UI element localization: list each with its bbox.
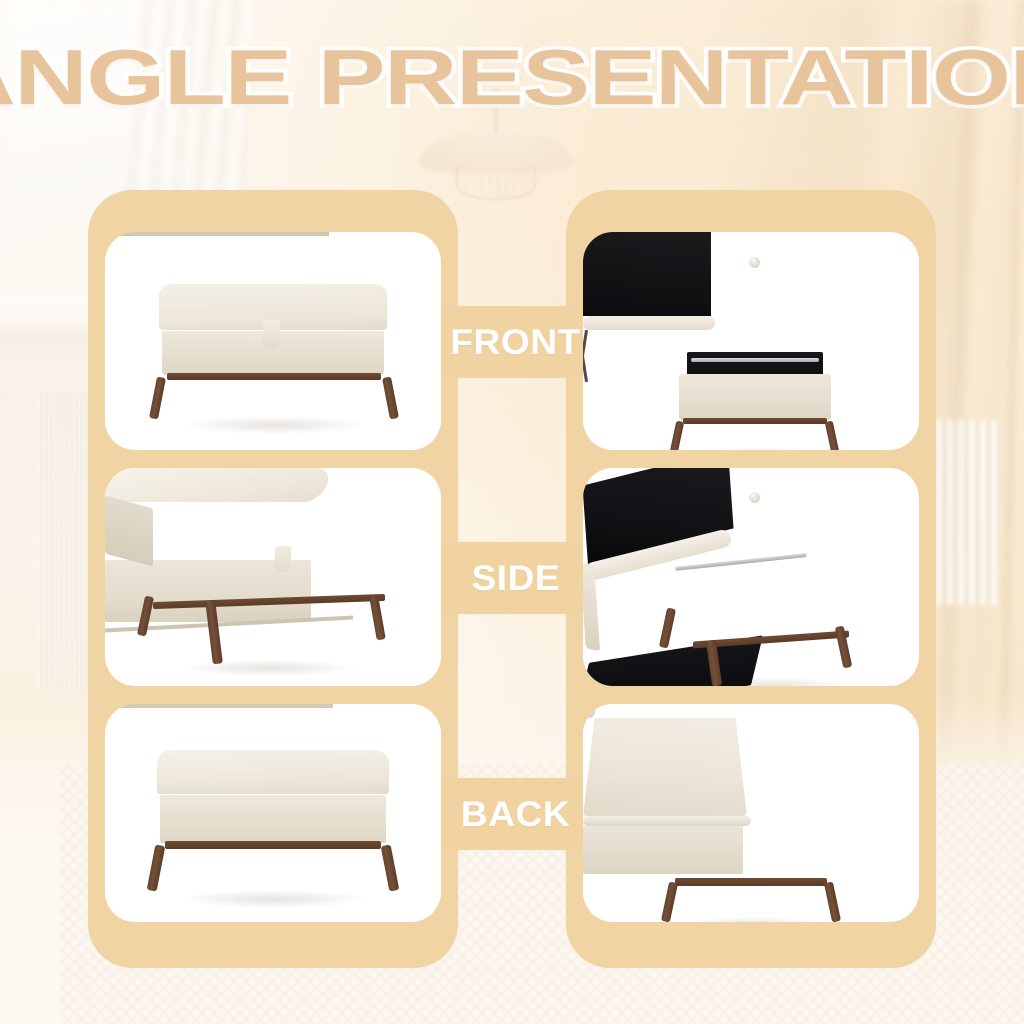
lid-knob xyxy=(749,257,760,268)
floor-shadow xyxy=(663,444,853,450)
row-label-side: SIDE xyxy=(472,561,561,596)
wood-cross-rail xyxy=(165,841,381,849)
lid-support-bar xyxy=(691,358,819,362)
lid-hinge-left xyxy=(583,330,588,356)
floor-shadow xyxy=(143,886,405,912)
lid-interior-lining xyxy=(583,232,711,316)
page-title: ANGLE PRESENTATION xyxy=(0,38,1024,116)
lid-top-edge xyxy=(583,316,715,330)
ottoman-lid-seam xyxy=(105,704,333,708)
product-photo-front-closed xyxy=(105,232,441,450)
floor-shadow xyxy=(659,914,849,922)
wood-leg-right xyxy=(369,596,386,641)
product-photo-back-open xyxy=(583,704,919,922)
lid-pull-tab xyxy=(275,546,291,572)
wood-leg-left xyxy=(147,844,166,891)
ottoman-back-panel xyxy=(160,795,386,843)
wood-leg-right xyxy=(381,844,400,891)
product-card-back-open[interactable] xyxy=(583,704,919,922)
product-photo-side-closed xyxy=(105,468,441,686)
wood-cross-rail xyxy=(167,373,381,380)
product-photo-side-open xyxy=(583,468,919,686)
product-card-side-open[interactable] xyxy=(583,468,919,686)
wood-leg-back-left xyxy=(659,608,676,649)
floor-shadow xyxy=(145,412,405,438)
lid-bottom-lip xyxy=(583,816,751,826)
ottoman-front-panel xyxy=(679,374,831,420)
ottoman-side-panel xyxy=(105,496,153,567)
lid-ring-pull xyxy=(583,704,595,718)
wood-cross-rail xyxy=(675,878,827,886)
row-label-back: BACK xyxy=(461,797,570,832)
ottoman-lid-seam xyxy=(105,232,329,236)
product-card-side-closed[interactable] xyxy=(105,468,441,686)
wood-cross-rail xyxy=(683,418,827,424)
product-card-front-open[interactable] xyxy=(583,232,919,450)
row-label-front: FRONT xyxy=(451,325,581,360)
product-photo-back-closed xyxy=(105,704,441,922)
product-card-front-closed[interactable] xyxy=(105,232,441,450)
angle-grid-frame: FRONT SIDE BACK xyxy=(88,190,936,968)
floor-shadow xyxy=(145,656,395,680)
wood-leg-right xyxy=(835,626,853,669)
lid-pull-tab xyxy=(263,320,280,348)
product-card-back-closed[interactable] xyxy=(105,704,441,922)
lid-hinge-right xyxy=(583,356,588,382)
product-photo-front-open xyxy=(583,232,919,450)
ottoman-back-panel xyxy=(583,826,743,874)
lid-support-bar xyxy=(675,553,807,571)
ottoman-lid-top xyxy=(157,750,389,794)
ottoman-lid-top xyxy=(105,468,334,502)
lid-knob xyxy=(749,492,760,503)
ottoman-lid-outer-face xyxy=(583,718,747,816)
